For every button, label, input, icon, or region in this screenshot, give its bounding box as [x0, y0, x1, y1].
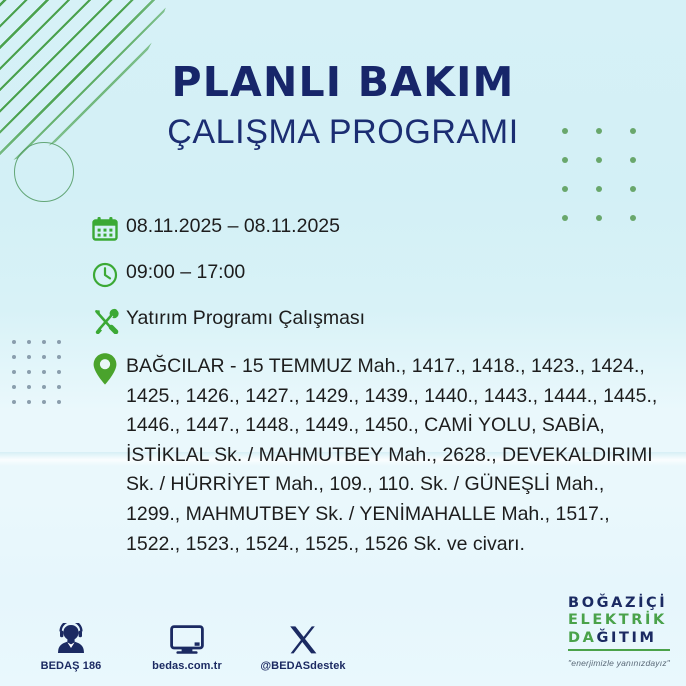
location-value: BAĞCILAR - 15 TEMMUZ Mah., 1417., 1418.,… [126, 352, 662, 559]
time-range-value: 09:00 – 17:00 [126, 260, 245, 283]
poster-header: PLANLI BAKIM ÇALIŞMA PROGRAMI [0, 62, 686, 149]
circle-outline-decoration [14, 142, 74, 202]
contact-website-label: bedas.com.tr [152, 660, 222, 672]
page-subtitle: ÇALIŞMA PROGRAMI [0, 115, 686, 149]
tools-icon [92, 306, 126, 336]
outage-details: 08.11.2025 – 08.11.2025 09:00 – 17:00 [92, 214, 662, 575]
poster-footer: BEDAŞ 186 bedas.com.tr [0, 610, 686, 672]
contact-phone-label: BEDAŞ 186 [41, 660, 102, 672]
contact-social-label: @BEDASdestek [260, 660, 345, 672]
contact-social[interactable]: @BEDASdestek [260, 621, 346, 672]
map-pin-icon [92, 352, 126, 384]
call-center-agent-icon [56, 621, 86, 655]
logo-line-dagitim: DAĞITIM [568, 631, 670, 646]
date-range-value: 08.11.2025 – 08.11.2025 [126, 214, 340, 237]
work-type-value: Yatırım Programı Çalışması [126, 306, 365, 329]
logo-tagline: "enerjimizle yanınızdayız" [568, 658, 670, 668]
planned-maintenance-poster: PLANLI BAKIM ÇALIŞMA PROGRAMI [0, 0, 686, 686]
logo-line-bogazici: BOĞAZİÇİ [568, 596, 670, 611]
contact-phone[interactable]: BEDAŞ 186 [28, 621, 114, 672]
logo-line-elektrik: ELEKTRİK [568, 613, 670, 628]
detail-row-location: BAĞCILAR - 15 TEMMUZ Mah., 1417., 1418.,… [92, 352, 662, 559]
detail-row-date: 08.11.2025 – 08.11.2025 [92, 214, 662, 244]
detail-row-time: 09:00 – 17:00 [92, 260, 662, 290]
contact-website[interactable]: bedas.com.tr [144, 621, 230, 672]
left-dot-grid-decoration [12, 340, 72, 415]
calendar-icon [92, 214, 126, 244]
logo-underline [568, 649, 670, 651]
logo-dagitim-prefix: DA [568, 630, 596, 646]
contact-channels: BEDAŞ 186 bedas.com.tr [28, 621, 346, 672]
logo-dagitim-suffix: ĞITIM [597, 630, 657, 646]
company-logo: BOĞAZİÇİ ELEKTRİK DAĞITIM "enerjimizle y… [568, 596, 670, 671]
detail-row-work-type: Yatırım Programı Çalışması [92, 306, 662, 336]
x-twitter-icon [288, 621, 318, 655]
page-title: PLANLI BAKIM [0, 62, 686, 103]
clock-icon [92, 260, 126, 290]
desktop-monitor-icon [170, 621, 204, 655]
